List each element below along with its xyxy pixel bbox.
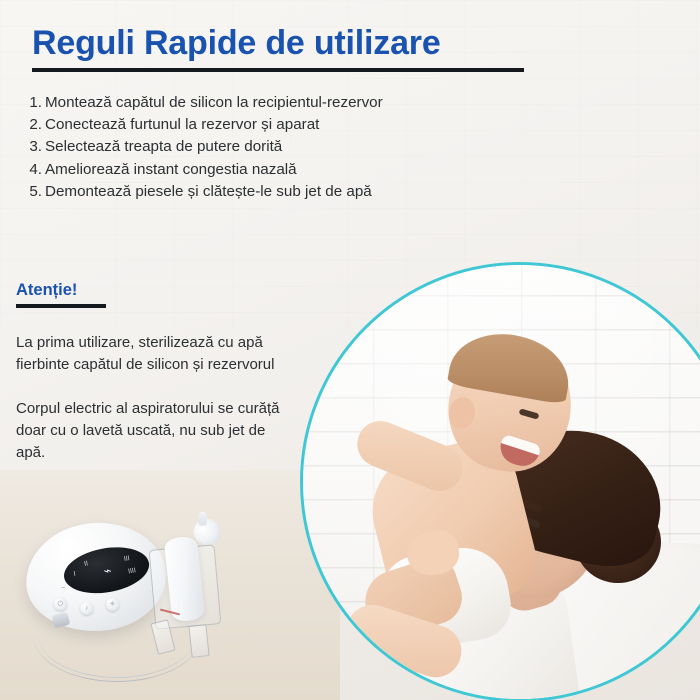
power-level-2-icon: II (84, 560, 89, 568)
list-item: 2. Conectează furtunul la rezervor și ap… (22, 117, 492, 132)
list-item: 1. Montează capătul de silicon la recipi… (22, 95, 492, 110)
photo-inner (303, 265, 700, 699)
attention-paragraph-2: Corpul electric al aspiratorului se cură… (16, 398, 296, 464)
power-level-3-icon: III (123, 555, 130, 563)
list-item: 3. Selectează treapta de putere dorită (22, 139, 492, 154)
title-underline-rule (32, 68, 524, 72)
minus-icon: – (56, 581, 70, 595)
attention-block: Atenție! La prima utilizare, sterilizeaz… (16, 281, 306, 464)
page-title: Reguli Rapide de utilizare (32, 24, 532, 62)
step-number: 3. (22, 139, 42, 154)
title-block: Reguli Rapide de utilizare (32, 24, 532, 72)
device-control-panel: I II III IIII ⌁ (60, 541, 152, 599)
photo-circle-wrapper (300, 262, 700, 700)
step-text: Conectează furtunul la rezervor și apara… (45, 117, 319, 132)
power-level-4-icon: IIII (128, 567, 137, 575)
step-text: Selectează treapta de putere dorită (45, 139, 282, 154)
power-level-1-icon: I (73, 571, 76, 578)
steps-list: 1. Montează capătul de silicon la recipi… (22, 95, 492, 206)
reservoir-accessory (146, 517, 230, 659)
product-illustration: I II III IIII ⌁ – ⏻ ♪ ✳ (8, 505, 238, 690)
attention-paragraph-1: La prima utilizare, sterilizează cu apă … (16, 332, 296, 376)
step-number: 4. (22, 162, 42, 177)
step-text: Demontează piesele și clătește-le sub je… (45, 184, 372, 199)
step-number: 1. (22, 95, 42, 110)
step-number: 2. (22, 117, 42, 132)
photo-circle-ring (300, 262, 700, 700)
attention-heading: Atenție! (16, 281, 306, 300)
list-item: 4. Ameliorează instant congestia nazală (22, 162, 492, 177)
step-text: Montează capătul de silicon la recipient… (45, 95, 383, 110)
attention-underline-rule (16, 304, 106, 308)
step-text: Ameliorează instant congestia nazală (45, 162, 297, 177)
baby-figure (333, 335, 633, 685)
reservoir-leg-right (188, 624, 209, 658)
device-display-icon: ⌁ (95, 561, 119, 581)
list-item: 5. Demontează piesele și clătește-le sub… (22, 184, 492, 199)
poster-canvas: Reguli Rapide de utilizare 1. Montează c… (0, 0, 700, 700)
step-number: 5. (22, 184, 42, 199)
